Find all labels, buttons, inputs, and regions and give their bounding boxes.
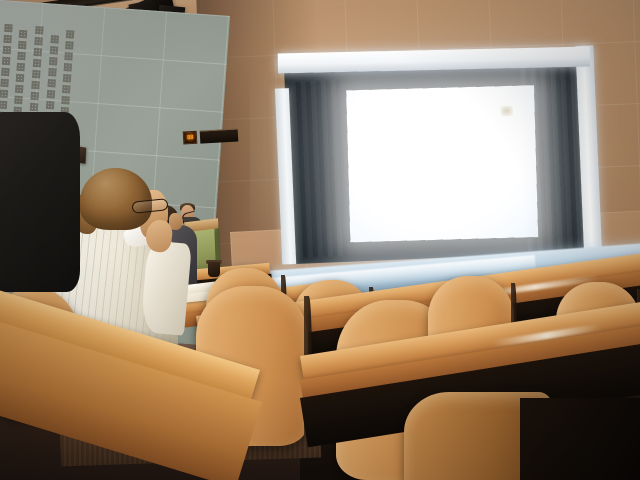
photo-scene: 88 xyxy=(0,0,640,480)
amber-indicator-text: 88 xyxy=(187,134,194,140)
chair-foreground-right-shadow xyxy=(520,398,640,480)
coat-draped xyxy=(0,112,80,292)
amber-indicator-icon: 88 xyxy=(183,131,198,145)
lens-flare-icon xyxy=(501,106,513,116)
stage-curtain-left xyxy=(291,80,348,258)
screen-alcove xyxy=(284,56,588,264)
foreground-man-arm xyxy=(140,240,192,335)
projection-screen xyxy=(346,85,538,242)
display-strip xyxy=(200,128,239,143)
foreground-man-hair xyxy=(80,168,152,230)
